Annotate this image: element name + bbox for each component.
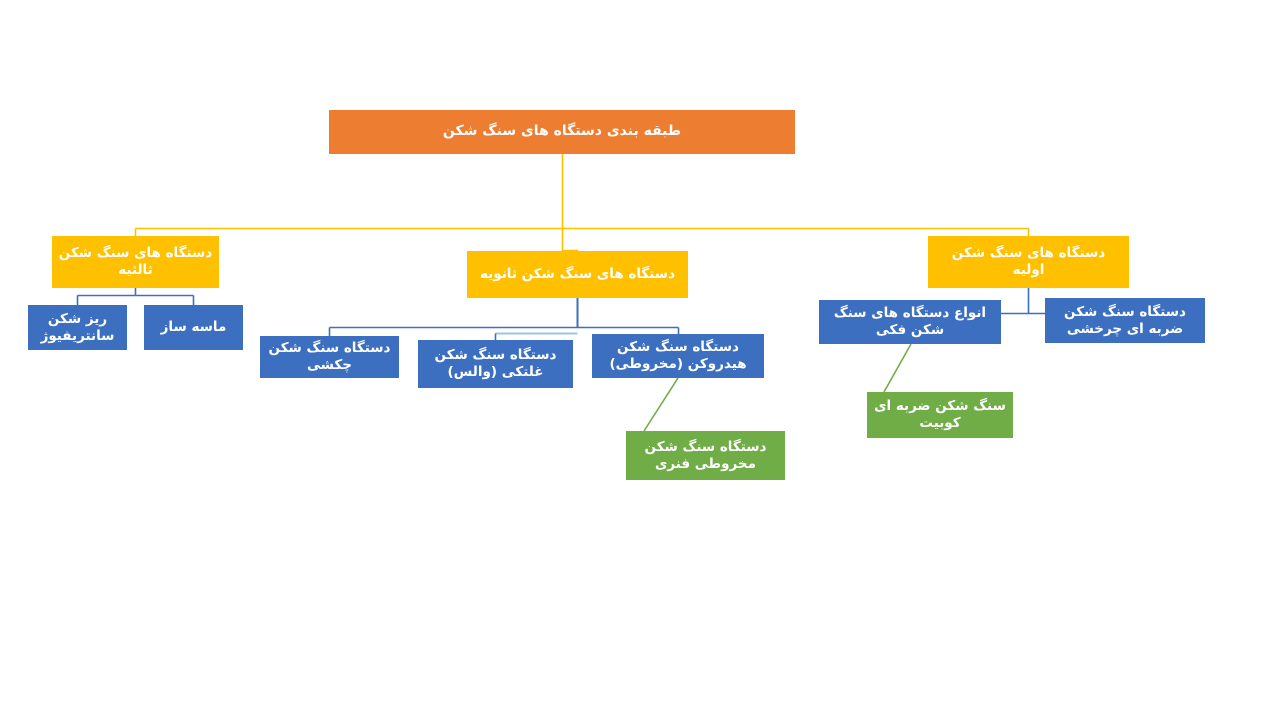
level1-node-secondary-crushers[interactable]: دستگاه های سنگ شکن ثانویه (467, 251, 688, 298)
level2-node-roll-crusher[interactable]: دستگاه سنگ شکن غلتکی (والس) (418, 340, 573, 388)
connector-jaw-to-kubit (884, 344, 911, 392)
level1-node-tertiary-crushers[interactable]: دستگاه های سنگ شکن ثالثیه (52, 236, 219, 288)
level1-node-secondary-label: دستگاه های سنگ شکن ثانویه (480, 266, 675, 283)
level2-node-rotary-impact-crusher-label: دستگاه سنگ شکن ضربه ای چرخشی (1051, 304, 1199, 338)
level3-node-spring-cone-crusher[interactable]: دستگاه سنگ شکن مخروطی فنری (626, 431, 785, 480)
level1-node-tertiary-label: دستگاه های سنگ شکن ثالثیه (58, 245, 213, 279)
root-node-label: طبقه بندی دستگاه های سنگ شکن (443, 123, 681, 141)
level1-node-primary-crushers[interactable]: دستگاه های سنگ شکن اولیه (928, 236, 1129, 288)
level2-node-hydrocone-crusher-label: دستگاه سنگ شکن هیدروکن (مخروطی) (598, 339, 758, 373)
level2-node-hammer-crusher[interactable]: دستگاه سنگ شکن چکشی (260, 336, 399, 378)
level3-node-kubit-impact-crusher[interactable]: سنگ شکن ضربه ای کوبیت (867, 392, 1013, 438)
crusher-classification-diagram: طبقه بندی دستگاه های سنگ شکن دستگاه های … (0, 0, 1280, 720)
level2-node-sand-maker-label: ماسه ساز (161, 319, 227, 336)
connector-root-to-level1 (136, 152, 1029, 251)
level2-node-hydrocone-crusher[interactable]: دستگاه سنگ شکن هیدروکن (مخروطی) (592, 334, 764, 378)
level2-node-hammer-crusher-label: دستگاه سنگ شکن چکشی (266, 340, 393, 374)
level2-node-centrifugal-fine-crusher-label: ریز شکن سانتریفیوژ (34, 311, 121, 345)
level3-node-spring-cone-crusher-label: دستگاه سنگ شکن مخروطی فنری (632, 439, 779, 473)
level3-node-kubit-impact-crusher-label: سنگ شکن ضربه ای کوبیت (873, 398, 1007, 432)
level2-node-jaw-crusher-label: انواع دستگاه های سنگ شکن فکی (825, 305, 995, 339)
connector-tertiary-to-children (78, 288, 194, 305)
level2-node-rotary-impact-crusher[interactable]: دستگاه سنگ شکن ضربه ای چرخشی (1045, 298, 1205, 343)
level1-node-primary-label: دستگاه های سنگ شکن اولیه (934, 245, 1123, 279)
connector-hydrocone-to-spring-cone (644, 378, 678, 431)
level2-node-centrifugal-fine-crusher[interactable]: ریز شکن سانتریفیوژ (28, 305, 127, 350)
level2-node-sand-maker[interactable]: ماسه ساز (144, 305, 243, 350)
level2-node-jaw-crusher[interactable]: انواع دستگاه های سنگ شکن فکی (819, 300, 1001, 344)
root-node-crusher-classification[interactable]: طبقه بندی دستگاه های سنگ شکن (329, 110, 795, 154)
connector-primary-to-children (1001, 288, 1046, 314)
level2-node-roll-crusher-label: دستگاه سنگ شکن غلتکی (والس) (424, 347, 567, 381)
